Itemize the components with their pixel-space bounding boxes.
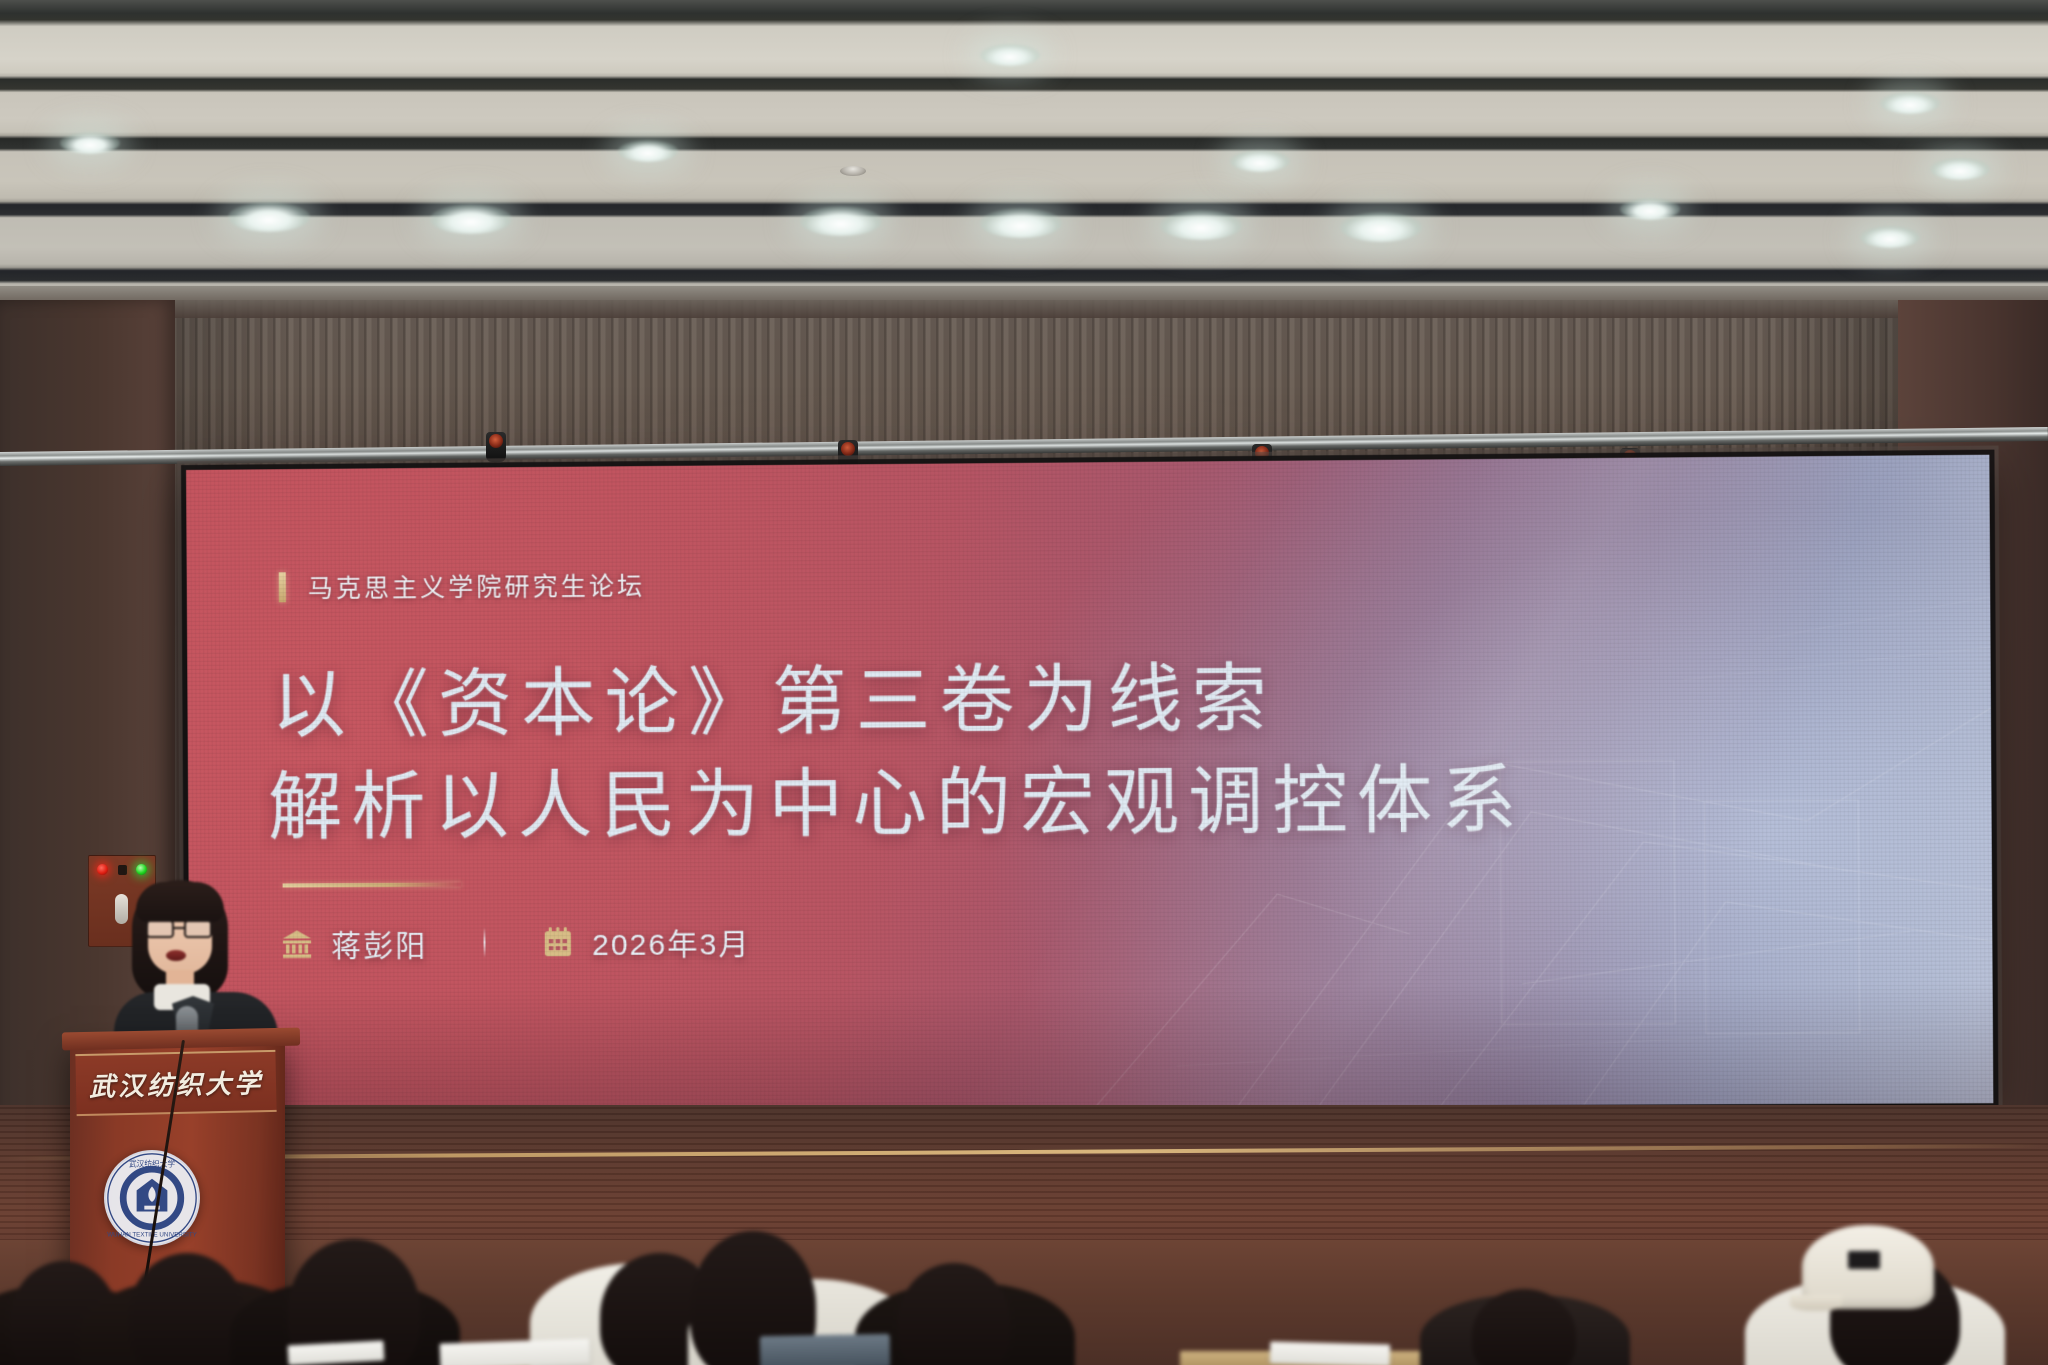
- power-led-red-icon: [97, 864, 108, 875]
- slide-divider-rule: [283, 883, 461, 888]
- downlight: [980, 44, 1040, 66]
- downlight: [800, 206, 882, 236]
- glasses-bridge: [174, 927, 184, 929]
- led-presentation-screen[interactable]: 马克思主义学院研究生论坛 以《资本论》第三卷为线索 解析以人民为中心的宏观调控体…: [186, 455, 1993, 1110]
- audience-rows: [0, 1205, 2048, 1365]
- slide-presenter: 蒋彭阳: [281, 921, 428, 966]
- calendar-icon: [542, 926, 574, 958]
- presenter-glasses-icon: [146, 920, 214, 938]
- glasses-lens-left: [146, 920, 174, 938]
- downlight: [1880, 92, 1940, 114]
- presenter-mouth: [166, 950, 186, 961]
- ceiling-soffit: [0, 286, 2048, 318]
- paper-sheet: [440, 1338, 591, 1365]
- slide-date: 2026年3月: [542, 919, 751, 964]
- slide-title-line-2: 解析以人民为中心的宏观调控体系: [268, 739, 1526, 854]
- downlight: [618, 140, 678, 162]
- ready-led-green-icon: [136, 864, 147, 875]
- presenter-fringe: [136, 882, 224, 922]
- audience-person-head: [898, 1263, 1010, 1365]
- status-led-dark-icon: [118, 865, 127, 875]
- downlight: [1230, 150, 1290, 172]
- downlight: [980, 208, 1062, 238]
- paper-sheet: [1270, 1341, 1391, 1365]
- eyebrow-accent-bar: [279, 572, 286, 602]
- slide-eyebrow: 马克思主义学院研究生论坛: [279, 566, 646, 605]
- smoke-detector-icon: [840, 166, 866, 176]
- glasses-lens-right: [184, 920, 212, 938]
- slide-title-line-1: 以《资本论》第三卷为线索: [271, 638, 1276, 752]
- downlight: [1860, 226, 1920, 248]
- downlight: [1620, 198, 1680, 220]
- svg-text:武汉纺织大学: 武汉纺织大学: [129, 1158, 175, 1168]
- audience-person-head: [128, 1253, 246, 1365]
- downlight: [1160, 210, 1242, 240]
- cap-brim: [1790, 1295, 1842, 1311]
- downlight: [1930, 158, 1990, 180]
- downlight: [430, 204, 512, 234]
- meta-separator: [483, 927, 485, 957]
- presentation-date: 2026年3月: [592, 919, 751, 964]
- presenter-name: 蒋彭阳: [331, 921, 428, 966]
- stage-spotlight-icon: [486, 432, 506, 462]
- slide-eyebrow-text: 马克思主义学院研究生论坛: [308, 566, 646, 605]
- downlight: [1340, 212, 1422, 242]
- institution-icon: [281, 927, 313, 959]
- downlight: [228, 202, 310, 232]
- slide-meta-row: 蒋彭阳: [281, 919, 751, 965]
- downlight: [60, 132, 120, 154]
- cap-logo-icon: [1848, 1251, 1880, 1269]
- lecture-hall-photo: 马克思主义学院研究生论坛 以《资本论》第三卷为线索 解析以人民为中心的宏观调控体…: [0, 0, 2048, 1365]
- laptop-screen: [760, 1334, 891, 1365]
